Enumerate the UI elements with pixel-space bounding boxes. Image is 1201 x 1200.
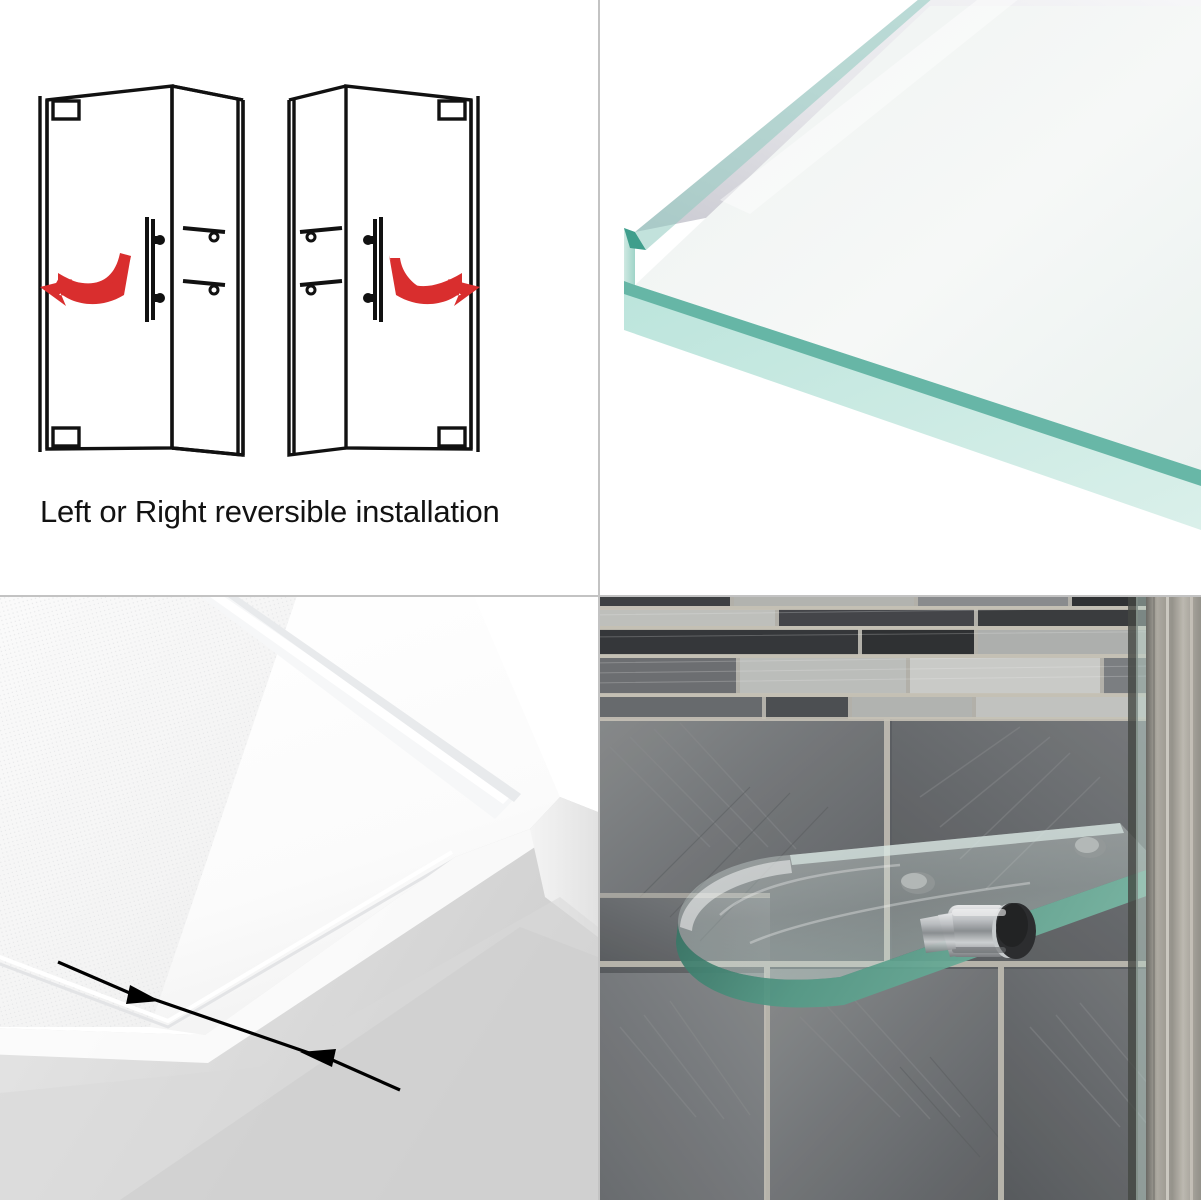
hinge-block-bottom-left	[53, 428, 79, 446]
divider-horizontal	[0, 595, 1201, 597]
panel-reversible-installation: Left or Right reversible installation	[0, 0, 598, 595]
hinge-block-top-right	[439, 101, 465, 119]
panel-threshold-requirement: Threshold size requirement: min. 7/8 in	[0, 597, 598, 1200]
panel-glass-shelves: 2 Clear Glass Shelves	[600, 597, 1201, 1200]
door-handle-right	[375, 217, 381, 322]
caption-reversible-installation: Left or Right reversible installation	[40, 492, 560, 532]
glass-shelf-photo	[600, 597, 1201, 1200]
product-feature-infographic: Left or Right reversible installation	[0, 0, 1201, 1200]
glass-slab-illustration	[600, 0, 1201, 595]
hinge-block-top-left	[53, 101, 79, 119]
diagram-right-hinged	[289, 86, 478, 455]
shower-tray-illustration	[0, 597, 598, 1200]
hinge-block-bottom-right	[439, 428, 465, 446]
reversible-door-diagrams	[0, 0, 598, 480]
diagram-left-hinged	[40, 86, 243, 455]
door-handle-left	[147, 217, 153, 322]
divider-vertical	[598, 0, 600, 1200]
panel-tempered-glass: ULTRA G Clear Tempered Glass 10 mm thick	[600, 0, 1201, 595]
